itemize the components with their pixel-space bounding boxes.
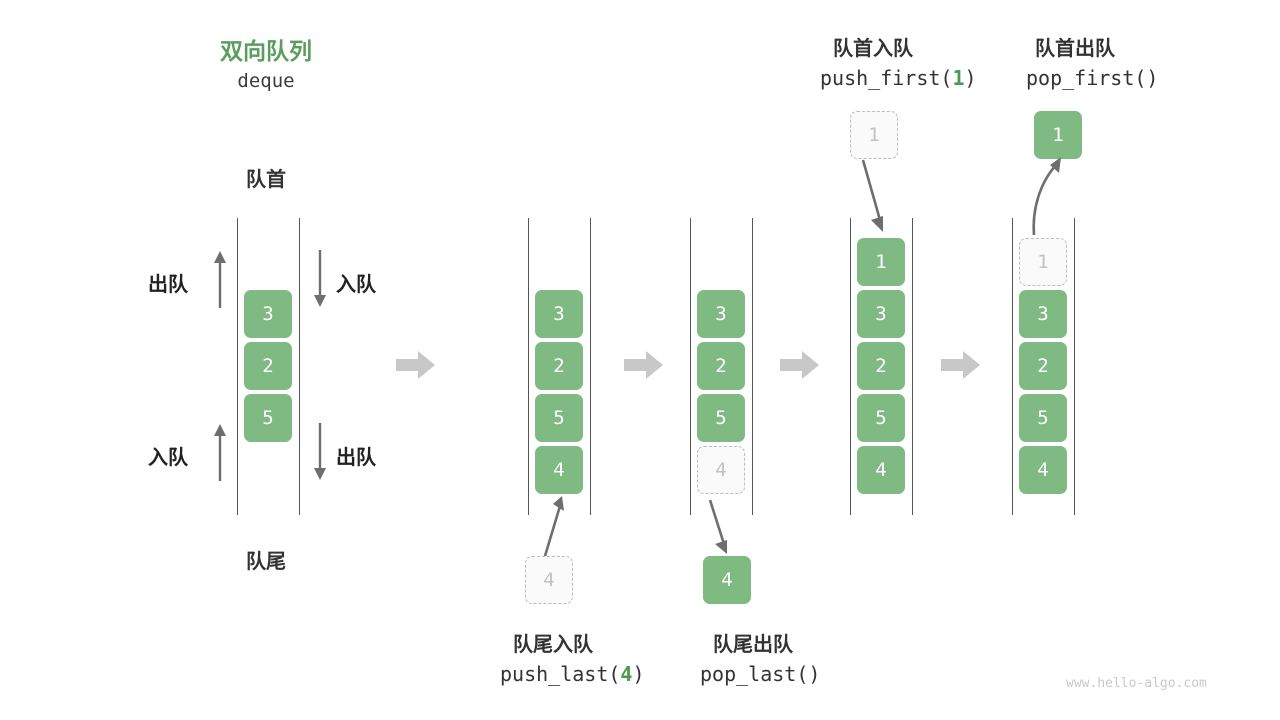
push-last-source-box: 4	[525, 556, 573, 604]
rear-end-label: 队尾	[216, 545, 316, 574]
legend-bottom-left-op: 入队	[148, 441, 188, 470]
panel1-rail-right	[299, 218, 300, 515]
panel3-box-0: 3	[697, 290, 745, 338]
pop-last-result-box: 4	[703, 556, 751, 604]
panel3-box-2: 5	[697, 394, 745, 442]
push-first-code-arg: 1	[952, 66, 964, 90]
panel4-box-3: 5	[857, 394, 905, 442]
panel4-box-0: 1	[857, 238, 905, 286]
push-first-code-suffix: )	[965, 66, 977, 90]
pop-first-code-prefix: pop_first(	[1026, 66, 1146, 90]
pop-first-code-suffix: )	[1146, 66, 1158, 90]
panel5-box-2: 5	[1019, 394, 1067, 442]
panel2-rail-left	[528, 218, 529, 515]
push-first-code-prefix: push_first(	[820, 66, 952, 90]
op-label-push-last-cn: 队尾入队	[478, 628, 628, 657]
pop-last-code-prefix: pop_last(	[700, 662, 808, 686]
panel5-rail-right	[1074, 218, 1075, 515]
panel4-box-2: 2	[857, 342, 905, 390]
panel4-box-1: 3	[857, 290, 905, 338]
transition-arrow-2-icon	[624, 350, 664, 380]
panel3-box-1: 2	[697, 342, 745, 390]
legend-arrow-down-top	[306, 248, 334, 310]
panel2-box-3: 4	[535, 446, 583, 494]
front-end-label: 队首	[216, 163, 316, 192]
panel5-box-1: 2	[1019, 342, 1067, 390]
pop-first-result-box: 1	[1034, 111, 1082, 159]
panel5-rail-left	[1012, 218, 1013, 515]
op-label-pop-first-cn: 队首出队	[1000, 32, 1150, 61]
panel2-box-0: 3	[535, 290, 583, 338]
pop-last-arrow-icon	[700, 498, 740, 558]
push-last-code-suffix: )	[632, 662, 644, 686]
op-label-push-first-cn: 队首入队	[798, 32, 948, 61]
op-label-pop-first-code: pop_first()	[1026, 66, 1216, 90]
op-label-pop-last-code: pop_last()	[700, 662, 880, 686]
panel1-box-0: 3	[244, 290, 292, 338]
page-title-cn: 双向队列	[186, 32, 346, 66]
legend-top-left-op: 出队	[148, 268, 188, 297]
transition-arrow-3-icon	[780, 350, 820, 380]
page-title-code: deque	[186, 70, 346, 92]
panel5-ghost-box: 1	[1019, 238, 1067, 286]
legend-top-right-op: 入队	[336, 268, 376, 297]
panel2-rail-right	[590, 218, 591, 515]
panel2-box-1: 2	[535, 342, 583, 390]
panel1-box-1: 2	[244, 342, 292, 390]
push-first-arrow-icon	[852, 158, 892, 236]
op-label-push-first-code: push_first(1)	[820, 66, 1025, 90]
panel3-rail-right	[752, 218, 753, 515]
push-first-source-box: 1	[850, 111, 898, 159]
legend-arrow-up-bottom	[206, 421, 234, 483]
push-last-code-arg: 4	[620, 662, 632, 686]
transition-arrow-4-icon	[941, 350, 981, 380]
transition-arrow-1-icon	[396, 350, 436, 380]
legend-arrow-up-top	[206, 248, 234, 310]
panel1-box-2: 5	[244, 394, 292, 442]
panel3-ghost-box: 4	[697, 446, 745, 494]
panel1-rail-left	[237, 218, 238, 515]
push-last-code-prefix: push_last(	[500, 662, 620, 686]
pop-first-arrow-icon	[1018, 155, 1072, 237]
watermark: www.hello-algo.com	[1066, 676, 1207, 691]
panel4-rail-left	[850, 218, 851, 515]
panel3-rail-left	[690, 218, 691, 515]
push-last-arrow-icon	[536, 492, 572, 558]
op-label-pop-last-cn: 队尾出队	[678, 628, 828, 657]
panel5-box-3: 4	[1019, 446, 1067, 494]
panel4-box-4: 4	[857, 446, 905, 494]
panel2-box-2: 5	[535, 394, 583, 442]
legend-bottom-right-op: 出队	[336, 441, 376, 470]
op-label-push-last-code: push_last(4)	[500, 662, 695, 686]
legend-arrow-down-bottom	[306, 421, 334, 483]
panel5-box-0: 3	[1019, 290, 1067, 338]
pop-last-code-suffix: )	[808, 662, 820, 686]
panel4-rail-right	[912, 218, 913, 515]
